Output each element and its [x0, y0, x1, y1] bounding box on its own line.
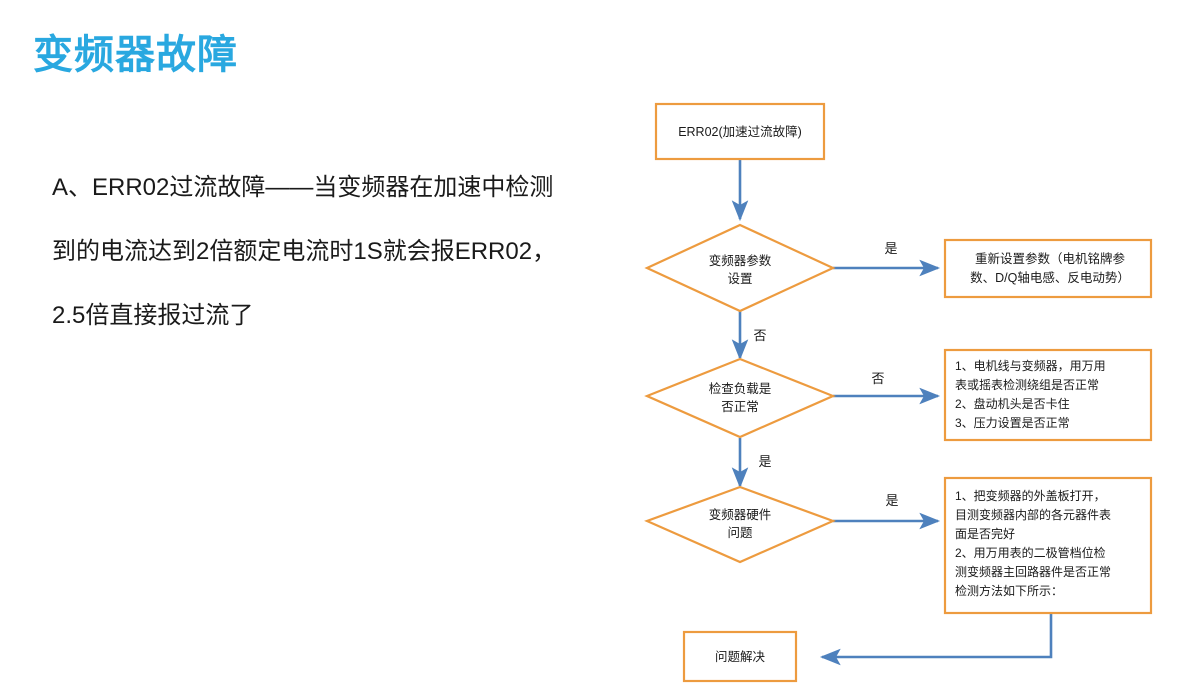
connector-action3-to-end	[822, 613, 1051, 657]
node-action3-label-line6: 检测方法如下所示：	[955, 583, 1063, 598]
node-action-load-checks[interactable]: 1、电机线与变频器，用万用 表或摇表检测绕组是否正常 2、盘动机头是否卡住 3、…	[945, 350, 1151, 440]
node-action3-label-line1: 1、把变频器的外盖板打开，	[955, 488, 1106, 503]
edge-label-decision3-yes: 是	[885, 493, 898, 508]
edge-label-decision1-no: 否	[753, 328, 766, 343]
node-action-hardware-checks[interactable]: 1、把变频器的外盖板打开， 目测变频器内部的各元器件表 面是否完好 2、用万用表…	[945, 478, 1151, 613]
node-end-label: 问题解决	[715, 650, 766, 664]
node-decision2-label-line1: 检查负载是	[709, 381, 772, 396]
node-end-problem-solved[interactable]: 问题解决	[684, 632, 796, 681]
node-start-label: ERR02(加速过流故障)	[678, 124, 802, 139]
node-action3-label-line4: 2、用万用表的二极管档位检	[955, 545, 1106, 560]
node-action2-label-line2: 表或摇表检测绕组是否正常	[955, 377, 1099, 392]
node-action2-label-line3: 2、盘动机头是否卡住	[955, 396, 1070, 411]
node-decision-parameter-setting[interactable]: 变频器参数 设置	[647, 225, 833, 311]
node-action2-label-line4: 3、压力设置是否正常	[955, 416, 1070, 430]
node-action3-label-line3: 面是否完好	[955, 526, 1015, 541]
edge-label-decision1-yes: 是	[884, 241, 897, 256]
node-action1-label-line2: 数、D/Q轴电感、反电动势）	[970, 270, 1130, 285]
node-action3-label-line2: 目测变频器内部的各元器件表	[955, 507, 1111, 522]
edge-label-decision2-yes: 是	[758, 454, 771, 469]
node-decision-check-load[interactable]: 检查负载是 否正常	[647, 359, 833, 437]
node-action1-shape	[945, 240, 1151, 297]
node-action2-label-line1: 1、电机线与变频器，用万用	[955, 358, 1106, 373]
node-start[interactable]: ERR02(加速过流故障)	[656, 104, 824, 159]
node-decision-hardware-problem[interactable]: 变频器硬件 问题	[647, 487, 833, 562]
node-decision1-label-line2: 设置	[727, 271, 752, 286]
node-action1-label-line1: 重新设置参数（电机铭牌参	[975, 251, 1126, 266]
troubleshooting-flowchart: ERR02(加速过流故障) 变频器参数 设置 重新设置参数（电机铭牌参 数、D/…	[0, 0, 1200, 698]
node-decision1-shape	[647, 225, 833, 311]
node-decision1-label-line1: 变频器参数	[709, 253, 772, 268]
node-action-reset-parameters[interactable]: 重新设置参数（电机铭牌参 数、D/Q轴电感、反电动势）	[945, 240, 1151, 297]
node-decision2-label-line2: 否正常	[721, 400, 759, 414]
node-decision3-shape	[647, 487, 833, 562]
edge-label-decision2-no: 否	[871, 371, 884, 386]
node-decision3-label-line1: 变频器硬件	[709, 507, 772, 522]
node-decision2-shape	[647, 359, 833, 437]
node-action3-label-line5: 测变频器主回路器件是否正常	[955, 564, 1111, 579]
node-decision3-label-line2: 问题	[727, 526, 753, 540]
